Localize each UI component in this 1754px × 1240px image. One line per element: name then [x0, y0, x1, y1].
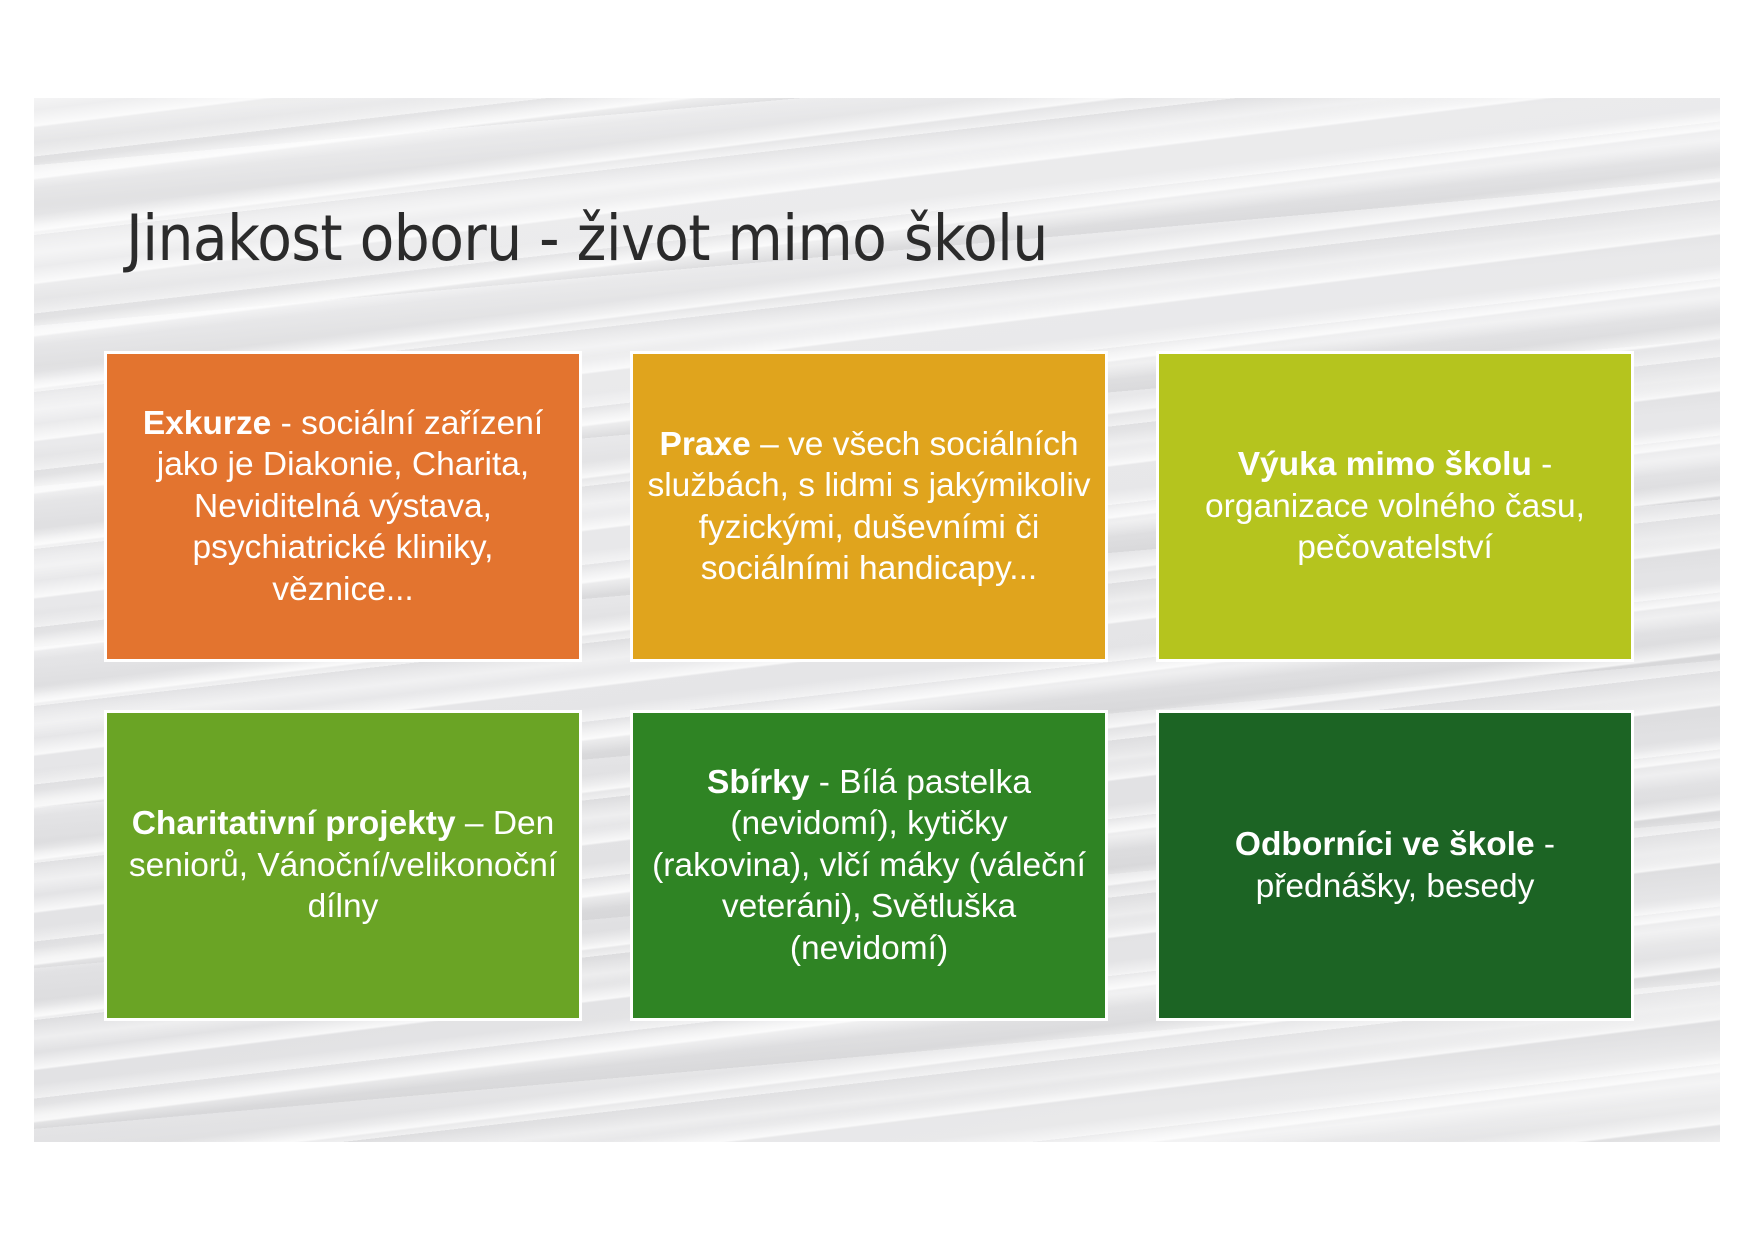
card-lead: Výuka mimo školu: [1238, 446, 1532, 483]
page-title: Jinakost oboru - život mimo školu: [126, 204, 1606, 273]
card-text: Praxe – ve všech sociálních službách, s …: [647, 424, 1091, 589]
card-grid: Exkurze - sociální zařízení jako je Diak…: [104, 351, 1634, 1021]
card-text: Sbírky - Bílá pastelka (nevidomí), kytič…: [647, 762, 1091, 969]
card-text: Výuka mimo školu - organizace volného ča…: [1173, 444, 1617, 568]
card-odbornici-ve-skole[interactable]: Odborníci ve škole - přednášky, besedy: [1156, 710, 1634, 1021]
card-text: Exkurze - sociální zařízení jako je Diak…: [121, 403, 565, 610]
card-sbirky[interactable]: Sbírky - Bílá pastelka (nevidomí), kytič…: [630, 710, 1108, 1021]
card-vyuka-mimo-skolu[interactable]: Výuka mimo školu - organizace volného ča…: [1156, 351, 1634, 662]
card-lead: Exkurze: [143, 405, 272, 442]
card-lead: Praxe: [659, 426, 750, 463]
card-lead: Sbírky: [707, 764, 809, 801]
card-text: Odborníci ve škole - přednášky, besedy: [1173, 824, 1617, 907]
slide-canvas: Jinakost oboru - život mimo školu Exkurz…: [34, 98, 1720, 1142]
card-text: Charitativní projekty – Den seniorů, Ván…: [121, 803, 565, 927]
card-lead: Odborníci ve škole: [1235, 826, 1535, 863]
card-exkurze[interactable]: Exkurze - sociální zařízení jako je Diak…: [104, 351, 582, 662]
card-praxe[interactable]: Praxe – ve všech sociálních službách, s …: [630, 351, 1108, 662]
card-charitativni-projekty[interactable]: Charitativní projekty – Den seniorů, Ván…: [104, 710, 582, 1021]
card-lead: Charitativní projekty: [132, 805, 456, 842]
